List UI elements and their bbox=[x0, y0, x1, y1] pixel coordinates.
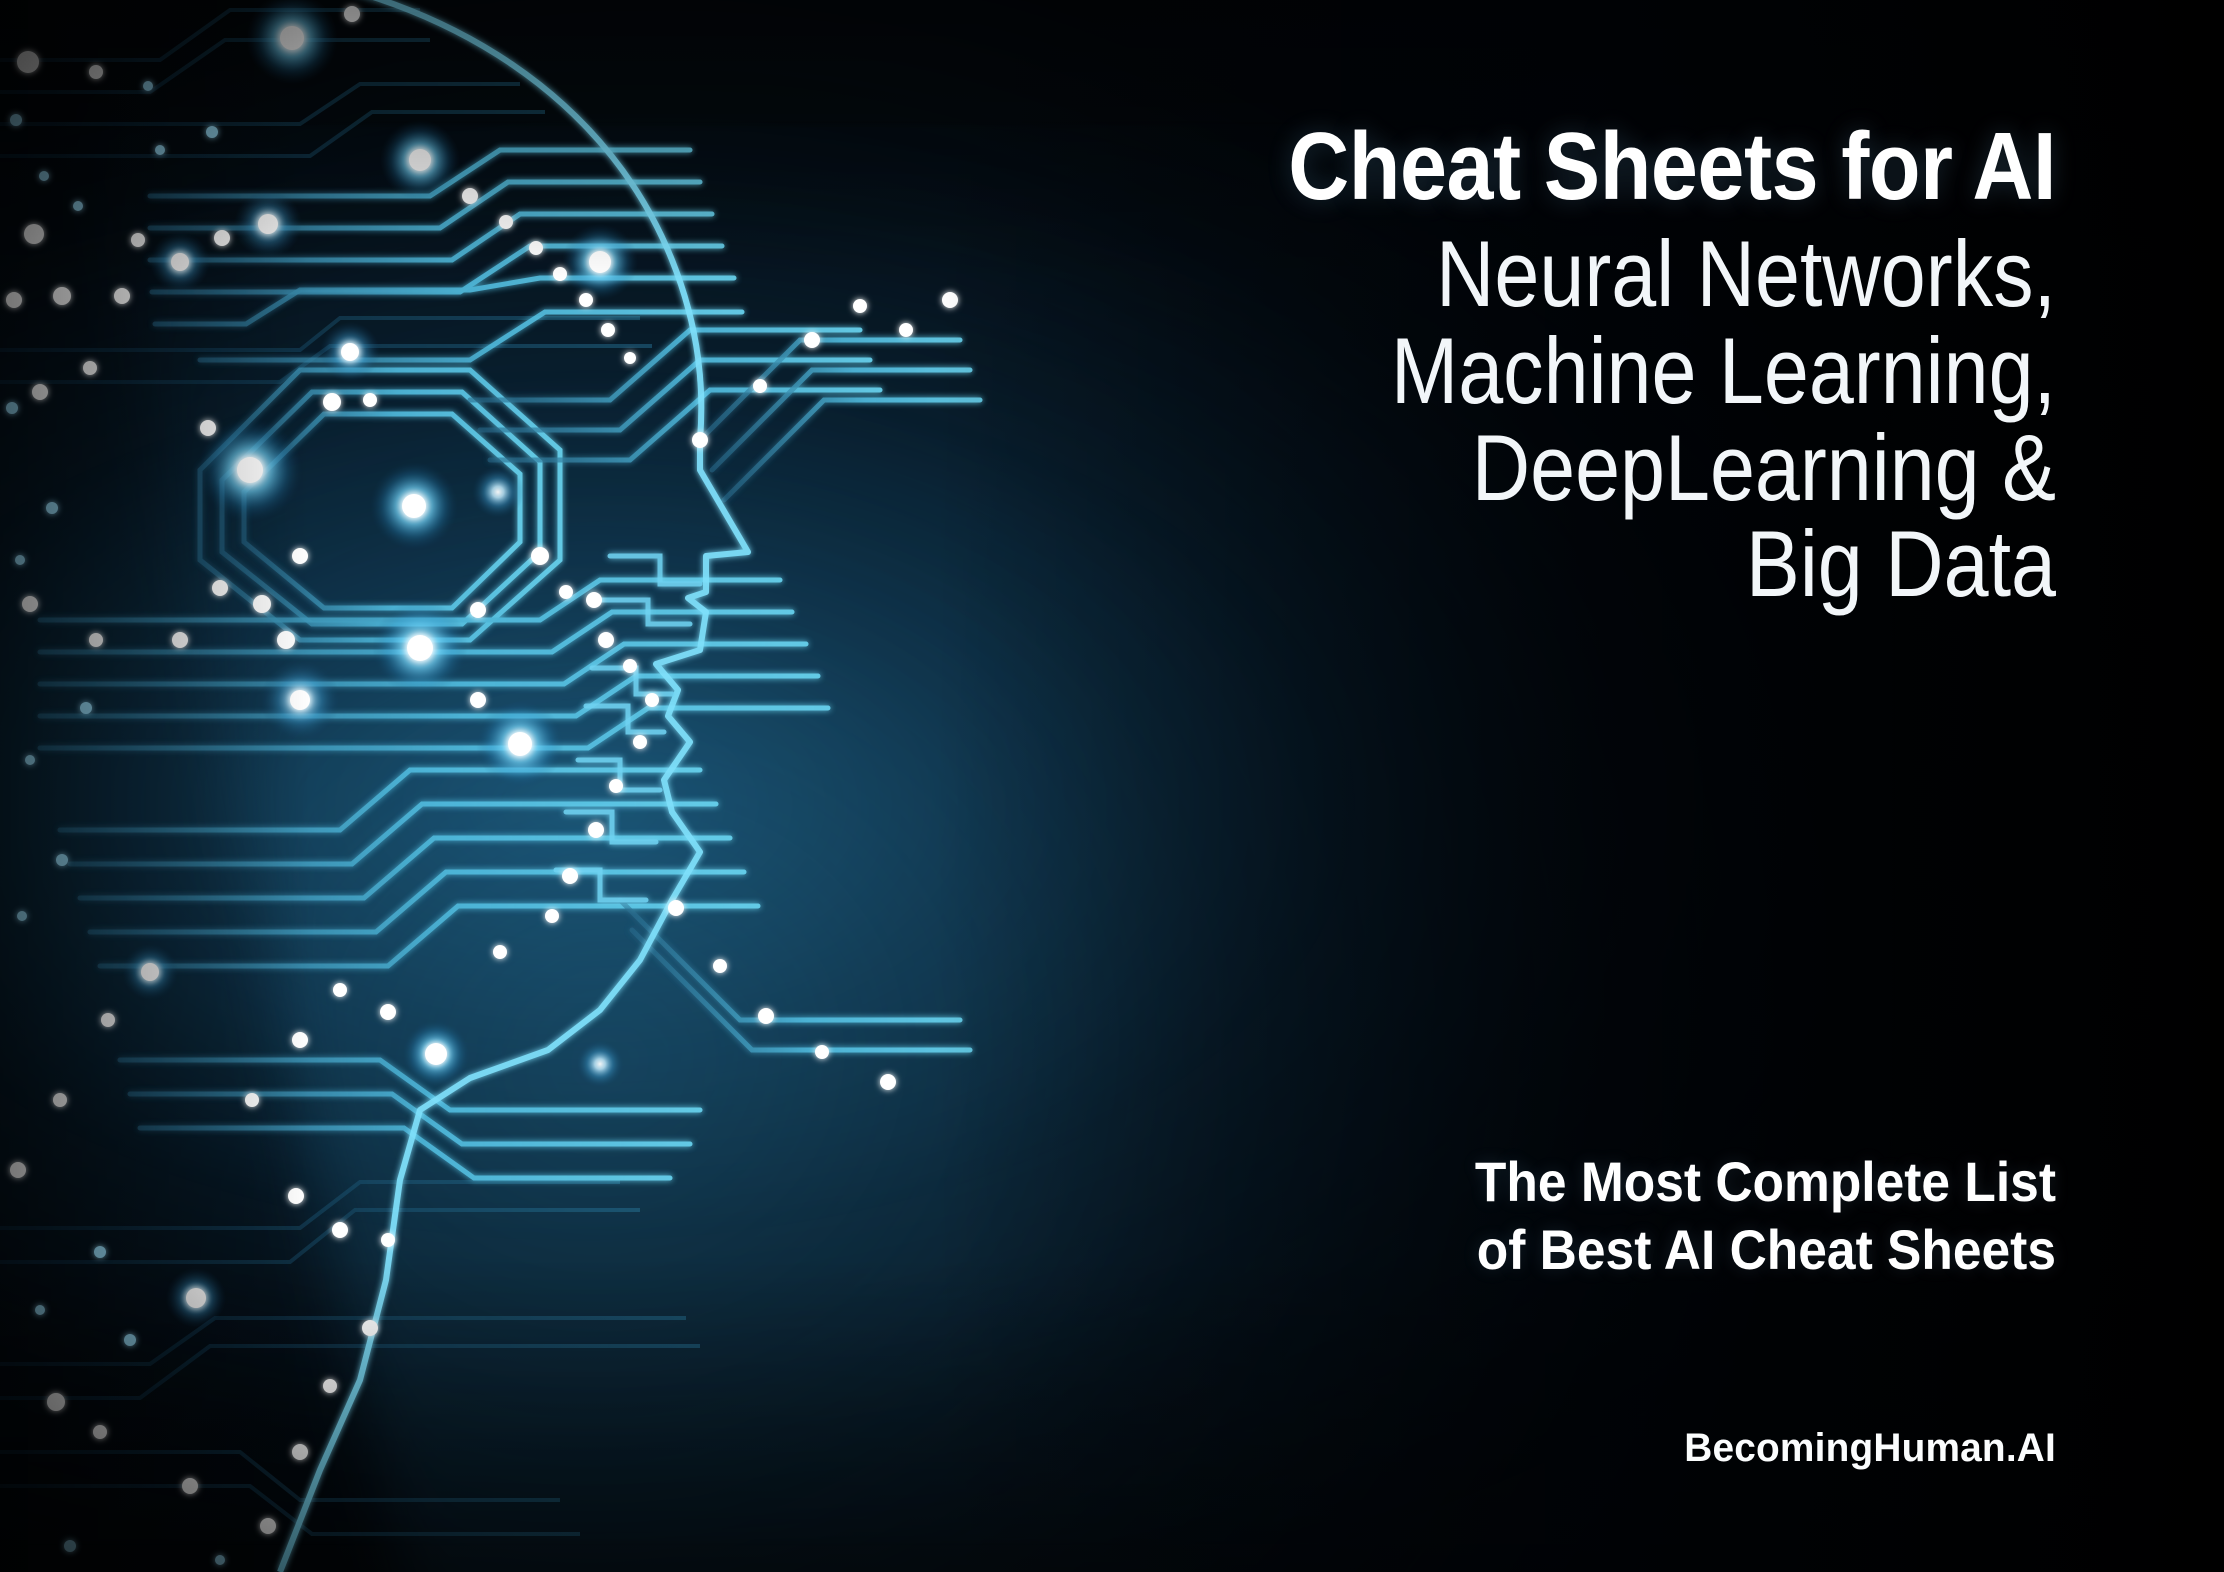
background-vignette bbox=[0, 0, 2224, 1572]
poster-root: Cheat Sheets for AI Neural Networks, Mac… bbox=[0, 0, 2224, 1572]
